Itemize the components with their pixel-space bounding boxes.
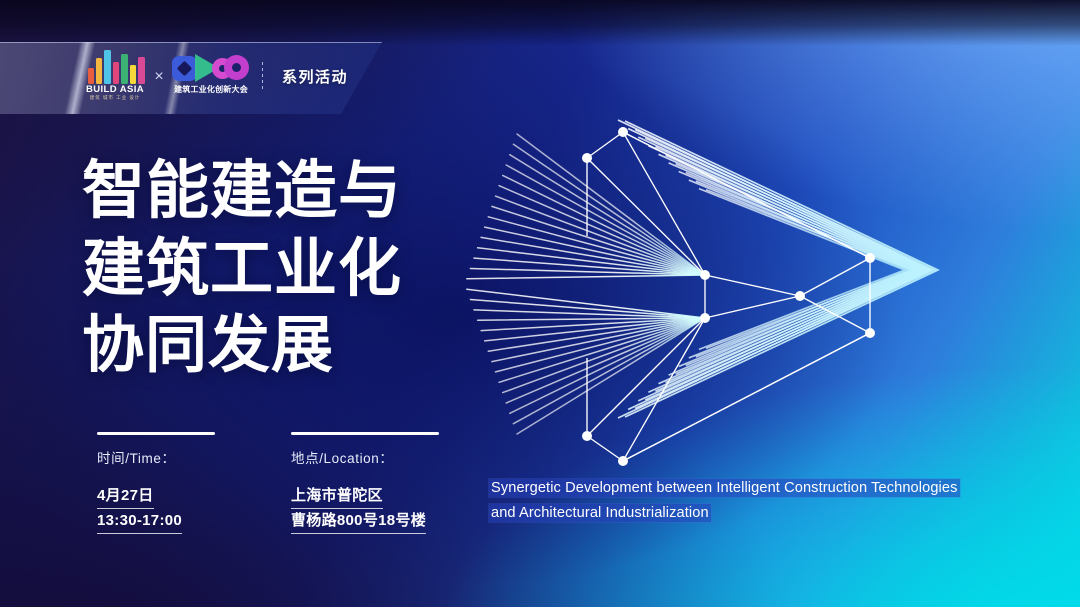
location-label: 地点/Location： [291,447,439,467]
vertical-dotted-divider [262,62,263,90]
headline-line-1: 智能建造与 [82,160,482,224]
conference-logo: 建筑工业化创新大会 [172,52,248,102]
english-subtitle: Synergetic Development between Intellige… [489,476,1019,526]
circle-ring-icon-2 [224,55,249,80]
series-label: 系列活动 [282,66,348,87]
headline-line-2: 建筑工业化 [82,238,482,302]
time-range: 13:30-17:00 [97,509,182,534]
location-line-2: 曹杨路800号18号楼 [291,509,426,534]
rounded-square-icon [172,56,197,81]
building-bars-icon [86,50,144,84]
location-value: 上海市普陀区 曹杨路800号18号楼 [291,484,439,534]
cross-icon: × [150,68,168,86]
background-top-shade [0,0,1080,46]
conference-logo-name: 建筑工业化创新大会 [170,84,252,95]
event-location-block: 地点/Location： 上海市普陀区 曹杨路800号18号楼 [291,432,439,534]
time-value: 4月27日 13:30-17:00 [97,484,215,534]
subtitle-line-1: Synergetic Development between Intellige… [489,479,960,497]
time-rule [97,432,215,435]
location-line-1: 上海市普陀区 [291,484,383,509]
build-asia-logo-subtitle: 建筑 城市 工业 设计 [86,95,144,101]
location-rule [291,432,439,435]
event-time-block: 时间/Time： 4月27日 13:30-17:00 [97,432,215,534]
build-asia-logo: BUILD ASIA 建筑 城市 工业 设计 [86,50,148,102]
event-info: 时间/Time： 4月27日 13:30-17:00 地点/Location： … [97,432,439,534]
headline-line-3: 协同发展 [82,315,482,378]
build-asia-logo-name: BUILD ASIA [86,84,144,95]
time-label: 时间/Time： [97,447,215,467]
time-date: 4月27日 [97,484,154,509]
page-title: 智能建造与 建筑工业化 协同发展 [82,160,482,378]
poster-canvas: BUILD ASIA 建筑 城市 工业 设计 × 建筑工业化创新大会 系列活动 … [0,0,1080,607]
subtitle-line-2: and Architectural Industrialization [489,504,711,522]
